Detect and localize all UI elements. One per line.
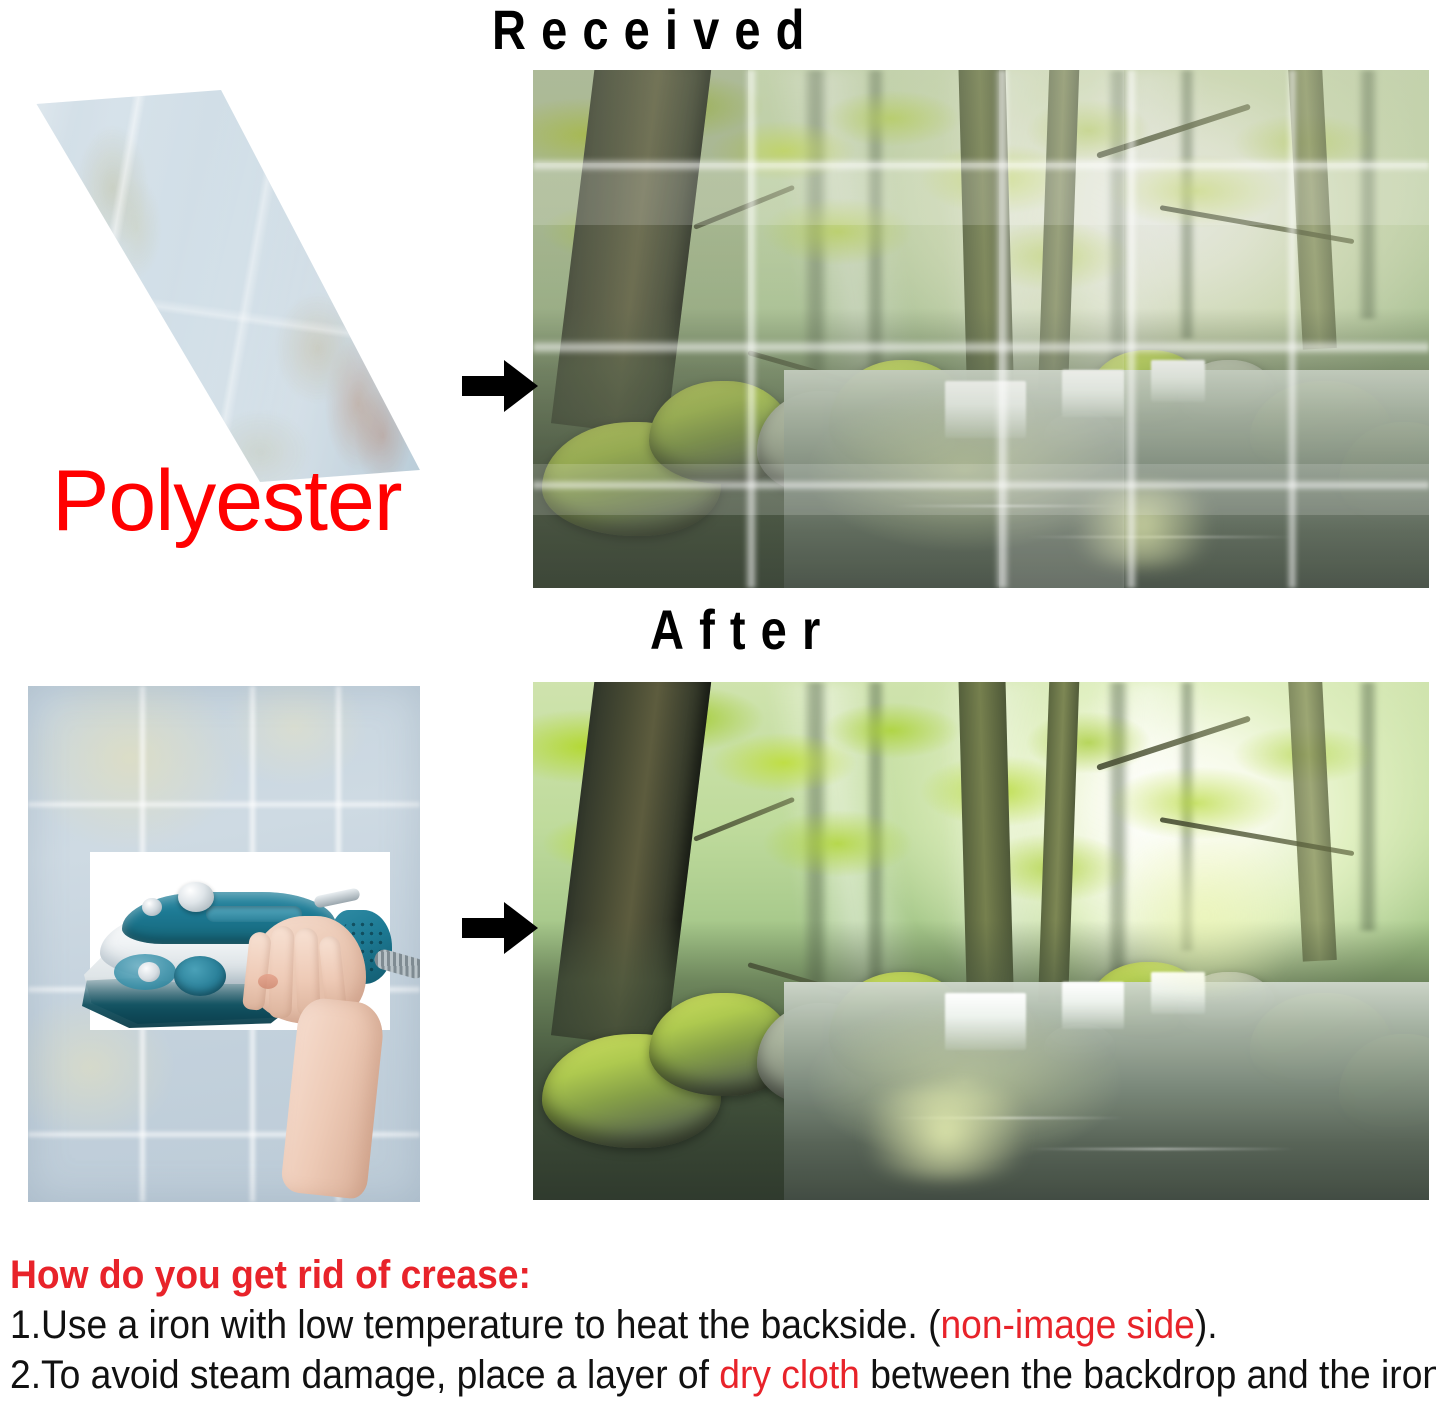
care-step-1-number: 1. <box>10 1303 41 1347</box>
material-label-polyester: Polyester <box>52 456 402 546</box>
hand-thumbnail <box>258 974 278 989</box>
iron-small-knob <box>142 898 162 916</box>
arrow-right-icon <box>462 900 538 956</box>
hand-finger-middle <box>268 926 294 1019</box>
forearm <box>280 996 386 1200</box>
fabric-fold-lines <box>14 84 424 484</box>
care-heading: How do you get rid of crease: <box>10 1252 1331 1298</box>
ironing-demo-scene <box>28 686 420 1202</box>
iron-spray-knob <box>178 882 214 912</box>
arrow-right-icon <box>462 358 538 414</box>
forest-scene-creased <box>533 70 1429 588</box>
iron-temperature-dial <box>174 956 226 996</box>
received-backdrop-photo <box>533 70 1429 588</box>
care-step-2-before: To avoid steam damage, place a layer of <box>41 1353 719 1397</box>
after-section-title: After <box>650 602 835 658</box>
received-section-title: Received <box>492 2 820 58</box>
care-step-2: 2.To avoid steam damage, place a layer o… <box>10 1352 1331 1398</box>
care-step-1-highlight: non-image side <box>940 1303 1194 1347</box>
after-backdrop-photo <box>533 682 1429 1200</box>
care-step-2-highlight: dry cloth <box>719 1353 860 1397</box>
infographic-page: Received Polyester <box>0 0 1436 1402</box>
forest-scene-smooth <box>533 682 1429 1200</box>
folded-fabric-swatch <box>14 84 424 484</box>
iron-cord-clip <box>313 887 360 908</box>
hand-icon <box>224 908 420 1198</box>
care-step-2-after: between the backdrop and the iron. <box>860 1353 1436 1397</box>
iron-steam-button <box>138 962 160 982</box>
dull-cast-overlay <box>533 70 1429 588</box>
care-step-1-before: Use a iron with low temperature to heat … <box>41 1303 940 1347</box>
care-step-1-after: ). <box>1195 1303 1218 1347</box>
care-step-2-number: 2. <box>10 1353 41 1397</box>
care-instructions-block: How do you get rid of crease: 1.Use a ir… <box>10 1252 1430 1398</box>
care-step-1: 1.Use a iron with low temperature to hea… <box>10 1302 1331 1348</box>
